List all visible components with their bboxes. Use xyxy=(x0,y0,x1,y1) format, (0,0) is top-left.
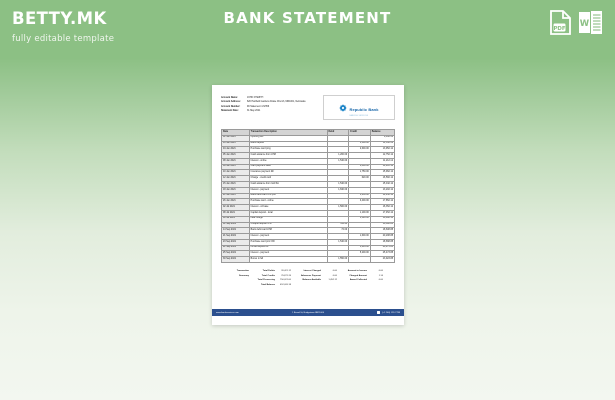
summary-label: Total Credits xyxy=(251,274,277,278)
summary-label: Total Debits xyxy=(251,269,277,273)
table-row: 30 Sep 2021Bonus in full1,550.0023,923.8… xyxy=(222,257,395,263)
summary-value: 1.14 xyxy=(369,274,383,278)
summary-group-totals: TransactionTotal Debits26,421.12SummaryT… xyxy=(221,269,291,287)
summary-label: Advances Payment xyxy=(297,274,323,278)
brand-tagline: fully editable template xyxy=(12,34,114,44)
summary-label: Total Processing xyxy=(251,278,277,282)
svg-text:W: W xyxy=(580,19,590,29)
bank-name: Republic Bank xyxy=(349,107,378,112)
footer-website[interactable]: www.bankservices.com xyxy=(216,312,239,314)
phone-icon xyxy=(377,311,380,314)
svg-text:PDF: PDF xyxy=(553,26,565,32)
summary-row: Advances Payment0.00 xyxy=(297,274,337,278)
page-title: BANK STATEMENT xyxy=(0,9,615,27)
transactions-table: Date Transaction Description Debit Credi… xyxy=(221,129,395,263)
summary-row: TransactionTotal Debits26,421.12 xyxy=(221,269,291,273)
header-icons: PDF W xyxy=(550,10,603,40)
summary-row: Total Processing750,021.00 xyxy=(221,278,291,282)
summary-label: Interest Charged xyxy=(297,269,323,273)
summary-label: Award Collected xyxy=(343,278,369,282)
header-band: BETTY.MK fully editable template BANK ST… xyxy=(0,0,615,58)
summary-value: 0.00 xyxy=(369,269,383,273)
summary-label: Balance Available xyxy=(297,278,323,282)
summary-row: Total Balance452,020.18 xyxy=(221,283,291,287)
summary-value: 1,452.12 xyxy=(323,278,337,282)
bank-emblem-icon xyxy=(339,99,347,117)
summary-section-title: Summary xyxy=(221,274,251,278)
summary-row: Interest Charged0.00 xyxy=(297,269,337,273)
account-meta-row: Account Name: JOHN O'SMITH Account Addre… xyxy=(221,94,395,120)
summary-value: 0.00 xyxy=(323,274,337,278)
summary-label: Total Balance xyxy=(251,283,277,287)
cell-description: Bonus in full xyxy=(249,257,327,263)
footer-phone-group: (+1 246) 123-7788 xyxy=(377,311,400,314)
bank-logo: Republic Bank BANKING SERVICES xyxy=(323,95,395,120)
bank-subtitle: BANKING SERVICES xyxy=(349,116,378,117)
bank-logo-text: Republic Bank BANKING SERVICES xyxy=(349,98,378,117)
account-detail-row: Statement Date: 31 May 2021 xyxy=(221,109,319,113)
footer-address: 1 Broad St, Bridgetown BB11004 xyxy=(243,312,374,314)
statement-document-page: Account Name: JOHN O'SMITH Account Addre… xyxy=(212,85,404,325)
summary-row: Amount to Income0.00 xyxy=(343,269,383,273)
account-detail-label: Statement Date: xyxy=(221,109,247,113)
word-file-icon[interactable]: W xyxy=(578,10,603,40)
summary-value: 452,020.18 xyxy=(277,283,291,287)
summary-value: 0.00 xyxy=(369,278,383,282)
cell-date: 30 Sep 2021 xyxy=(222,257,250,263)
pdf-file-icon[interactable]: PDF xyxy=(550,10,571,40)
summary-row: SummaryTotal Credits25,871.24 xyxy=(221,274,291,278)
account-detail-value: 31 May 2021 xyxy=(247,109,319,113)
summary-value: 750,021.00 xyxy=(277,278,291,282)
summary-value: 0.00 xyxy=(323,269,337,273)
summary-section-title: Transaction xyxy=(221,269,251,273)
summary-label: Charged Amount xyxy=(343,274,369,278)
footer-phone: (+1 246) 123-7788 xyxy=(382,312,400,314)
summary-row: Balance Available1,452.12 xyxy=(297,278,337,282)
cell-credit xyxy=(349,257,371,263)
summary-value: 25,871.24 xyxy=(277,274,291,278)
summary-group-charges: Interest Charged0.00Advances Payment0.00… xyxy=(297,269,337,287)
summary-group-awards: Amount to Income0.00Charged Amount1.14Aw… xyxy=(343,269,383,287)
cell-balance: 23,923.88 xyxy=(370,257,394,263)
summary-value: 26,421.12 xyxy=(277,269,291,273)
cell-debit: 1,550.00 xyxy=(327,257,349,263)
document-footer-bar: www.bankservices.com 1 Broad St, Bridget… xyxy=(212,309,404,316)
summary-row: Award Collected0.00 xyxy=(343,278,383,282)
account-details: Account Name: JOHN O'SMITH Account Addre… xyxy=(221,94,319,114)
summary-row: Charged Amount1.14 xyxy=(343,274,383,278)
summary-label: Amount to Income xyxy=(343,269,369,273)
transaction-summary: TransactionTotal Debits26,421.12SummaryT… xyxy=(221,269,395,287)
transactions-body: 01 Jun 2021Opening B/F9,852.1203 Jun 202… xyxy=(222,135,395,262)
